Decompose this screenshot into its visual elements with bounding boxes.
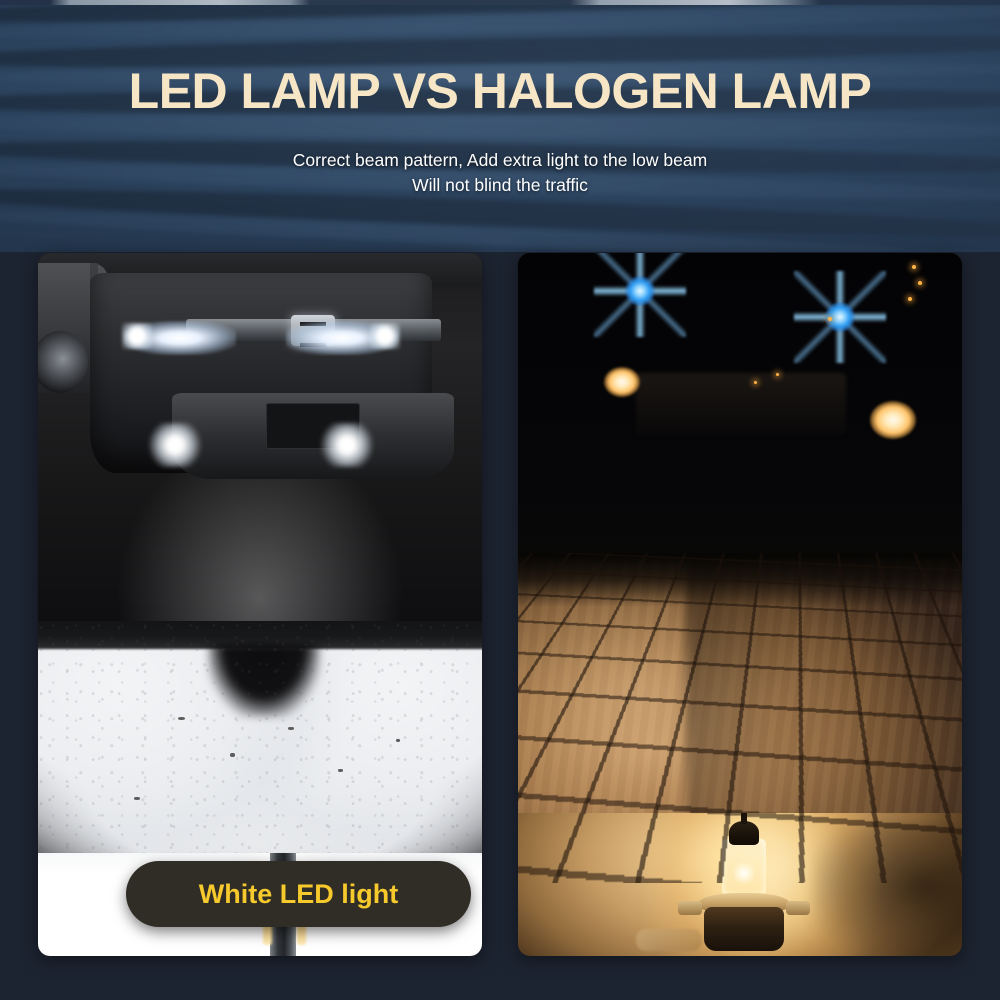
led-headlight-core-left bbox=[122, 323, 152, 349]
top-edge-strip bbox=[0, 0, 1000, 5]
asphalt-texture bbox=[38, 621, 482, 888]
dark-vehicle-grille bbox=[636, 373, 846, 435]
page-subtitle: Correct beam pattern, Add extra light to… bbox=[0, 148, 1000, 198]
halogen-bulb-shadow bbox=[812, 823, 962, 956]
halogen-bulb-base bbox=[704, 907, 784, 951]
subtitle-line-2: Will not blind the traffic bbox=[0, 173, 1000, 198]
page-title: LED LAMP VS HALOGEN LAMP bbox=[0, 62, 1000, 120]
halogen-bulb-wiring bbox=[636, 929, 702, 951]
halogen-flange-tab-left bbox=[678, 901, 702, 915]
blue-light-left bbox=[625, 276, 655, 306]
photo-halogen-bulb bbox=[518, 813, 962, 956]
pavement-dark-band bbox=[518, 553, 962, 607]
badge-white-led-light[interactable]: White LED light bbox=[126, 861, 471, 927]
photo-halogen-car-night bbox=[518, 253, 962, 583]
left-panel-led: White LED light bbox=[38, 253, 482, 956]
halogen-filament bbox=[734, 863, 754, 883]
photo-led-beam-on-asphalt bbox=[38, 621, 482, 888]
photo-led-car-night bbox=[38, 253, 482, 628]
amber-halogen-lamp-right bbox=[870, 401, 916, 439]
led-headlight-core-right bbox=[370, 323, 400, 349]
halogen-bulb-tip-cap bbox=[729, 821, 759, 845]
wave-stripe-pattern bbox=[0, 0, 1000, 252]
infographic-page: LED LAMP VS HALOGEN LAMP Correct beam pa… bbox=[0, 0, 1000, 1000]
subtitle-line-1: Correct beam pattern, Add extra light to… bbox=[293, 150, 707, 170]
led-fog-lamp-right bbox=[320, 423, 374, 467]
honda-civic-front bbox=[90, 273, 432, 473]
amber-halogen-lamp-left bbox=[604, 367, 640, 397]
right-panel-halogen: yellow halogen lamp bbox=[518, 253, 962, 956]
comparison-panels: White LED light bbox=[0, 252, 1000, 1000]
halogen-flange-tab-right bbox=[786, 901, 810, 915]
header-banner: LED LAMP VS HALOGEN LAMP Correct beam pa… bbox=[0, 0, 1000, 252]
led-fog-lamp-left bbox=[148, 423, 202, 467]
